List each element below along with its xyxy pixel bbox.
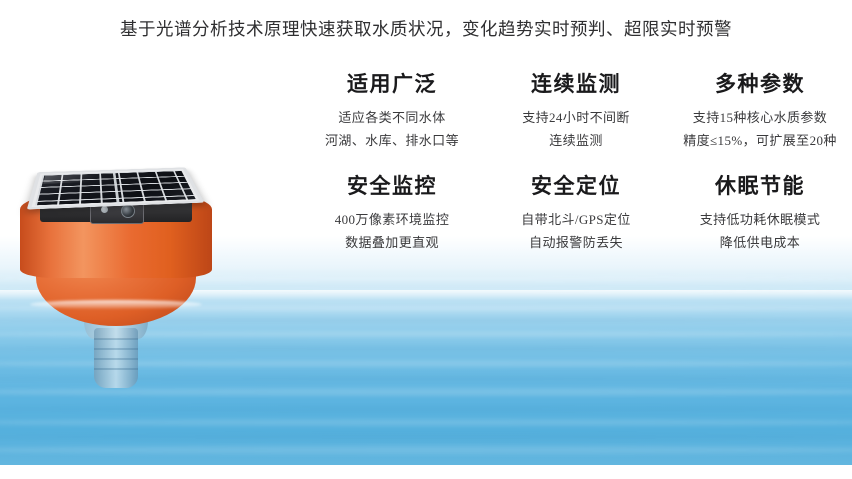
solar-panel-busbar bbox=[113, 171, 120, 204]
feature-row-1: 适用广泛 适应各类不同水体 河湖、水库、排水口等 连续监测 支持24小时不间断 … bbox=[300, 72, 852, 152]
feature-card-continuous-monitoring: 连续监测 支持24小时不间断 连续监测 bbox=[484, 72, 668, 152]
water-ripple bbox=[0, 388, 852, 396]
feature-card-multiple-parameters: 多种参数 支持15种核心水质参数 精度≤15%，可扩展至20种 bbox=[668, 72, 852, 152]
solar-panel-cells bbox=[35, 170, 196, 205]
feature-line: 支持低功耗休眠模式 bbox=[672, 209, 848, 231]
feature-line: 400万像素环境监控 bbox=[304, 209, 480, 231]
feature-card-sleep-power-saving: 休眠节能 支持低功耗休眠模式 降低供电成本 bbox=[668, 174, 852, 254]
feature-grid: 适用广泛 适应各类不同水体 河湖、水库、排水口等 连续监测 支持24小时不间断 … bbox=[300, 72, 852, 254]
feature-line: 降低供电成本 bbox=[672, 232, 848, 254]
camera-led-icon bbox=[101, 206, 108, 213]
feature-line: 数据叠加更直观 bbox=[304, 232, 480, 254]
feature-line: 支持15种核心水质参数 bbox=[672, 107, 848, 129]
feature-line: 适应各类不同水体 bbox=[304, 107, 480, 129]
water-ripple bbox=[0, 434, 852, 440]
feature-title: 休眠节能 bbox=[672, 174, 848, 200]
feature-line: 自带北斗/GPS定位 bbox=[488, 209, 664, 231]
feature-row-2: 安全监控 400万像素环境监控 数据叠加更直观 安全定位 自带北斗/GPS定位 … bbox=[300, 174, 852, 254]
page-title: 基于光谱分析技术原理快速获取水质状况，变化趋势实时预判、超限实时预警 bbox=[0, 16, 852, 41]
feature-card-secure-positioning: 安全定位 自带北斗/GPS定位 自动报警防丢失 bbox=[484, 174, 668, 254]
feature-title: 安全监控 bbox=[304, 174, 480, 200]
water-ripple bbox=[0, 406, 852, 412]
camera-lens-icon bbox=[121, 204, 135, 218]
product-image-monitoring-buoy bbox=[6, 128, 226, 378]
feature-title: 连续监测 bbox=[488, 72, 664, 98]
feature-title: 多种参数 bbox=[672, 72, 848, 98]
feature-line: 连续监测 bbox=[488, 130, 664, 152]
feature-card-security-surveillance: 安全监控 400万像素环境监控 数据叠加更直观 bbox=[300, 174, 484, 254]
buoy-waterline-highlight bbox=[30, 300, 202, 309]
water-ripple bbox=[0, 419, 852, 426]
solar-panel-icon bbox=[27, 167, 205, 209]
feature-title: 安全定位 bbox=[488, 174, 664, 200]
sensor-probe-body-icon bbox=[94, 328, 138, 388]
slide-canvas: 基于光谱分析技术原理快速获取水质状况，变化趋势实时预判、超限实时预警 bbox=[0, 0, 852, 479]
feature-card-wide-application: 适用广泛 适应各类不同水体 河湖、水库、排水口等 bbox=[300, 72, 484, 152]
feature-title: 适用广泛 bbox=[304, 72, 480, 98]
feature-line: 河湖、水库、排水口等 bbox=[304, 130, 480, 152]
water-ripple bbox=[0, 446, 852, 454]
feature-line: 支持24小时不间断 bbox=[488, 107, 664, 129]
feature-line: 自动报警防丢失 bbox=[488, 232, 664, 254]
feature-line: 精度≤15%，可扩展至20种 bbox=[672, 130, 848, 152]
